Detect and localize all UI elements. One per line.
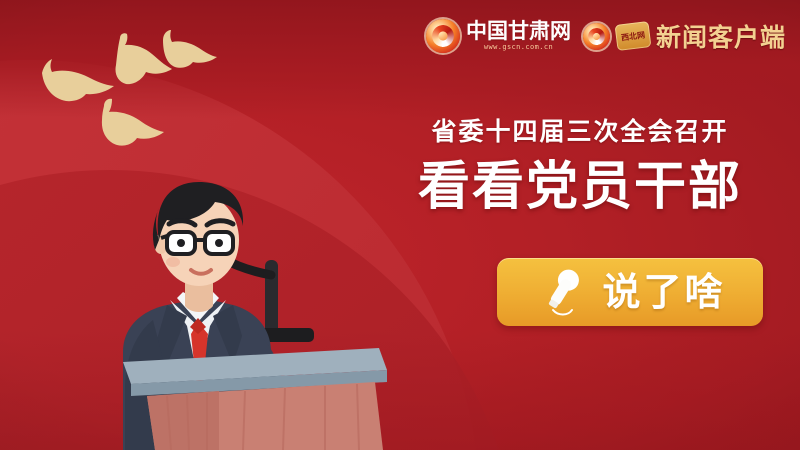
logo-primary-url: www.gscn.com.cn	[484, 44, 553, 51]
headline-title: 看看党员干部	[396, 159, 764, 216]
headline-block: 省委十四届三次全会召开 看看党员干部	[396, 118, 764, 216]
headline-subtitle: 省委十四届三次全会召开	[396, 118, 764, 147]
promo-banner: 中国甘肃网 www.gscn.com.cn 西北网 新闻客户端 省委十四届三次全…	[0, 0, 800, 450]
cta-label: 说了啥	[602, 273, 725, 311]
logo-secondary-name: 新闻客户端	[656, 18, 786, 54]
logo-news-client[interactable]: 西北网 新闻客户端	[583, 18, 786, 54]
logo-secondary-badge: 西北网	[615, 21, 652, 51]
podium	[123, 348, 387, 450]
logo-bar: 中国甘肃网 www.gscn.com.cn 西北网 新闻客户端	[426, 18, 786, 54]
flame-swirl-logo-icon	[426, 19, 460, 53]
microphone-icon	[534, 265, 588, 319]
speaker-at-podium-illustration	[95, 120, 395, 450]
speaker-head	[153, 182, 243, 312]
logo-gansu-net[interactable]: 中国甘肃网 www.gscn.com.cn	[426, 19, 571, 53]
dove-4-icon	[157, 26, 219, 70]
cta-button[interactable]: 说了啥	[497, 258, 763, 326]
logo-primary-name: 中国甘肃网	[466, 21, 571, 42]
flame-swirl-logo-secondary-icon	[583, 23, 610, 50]
